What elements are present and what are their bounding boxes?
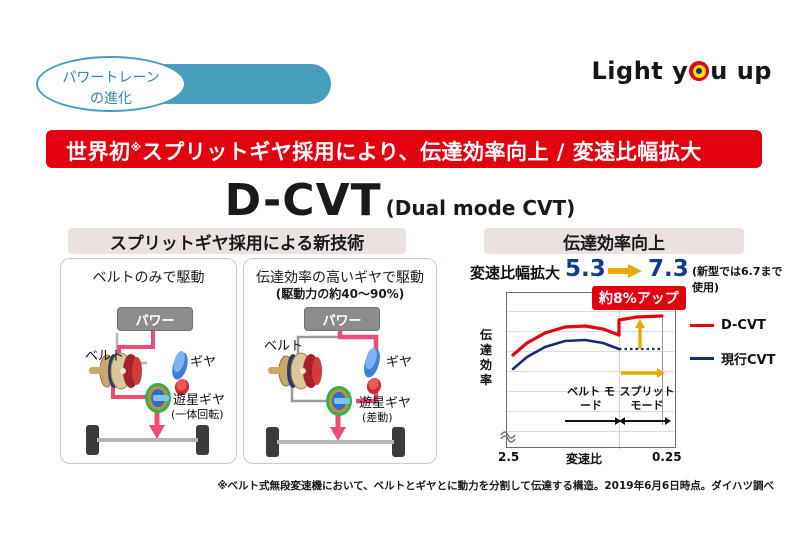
slide-root: CVT パワートレーン の進化 Light y u up 世界初※スプリットギヤ… (0, 0, 800, 534)
panel-gear-drive: 伝達効率の高いギヤで駆動 (駆動力の約40〜90%) パワー (243, 258, 437, 464)
y-axis-char-2: 達 (478, 343, 494, 358)
footnote: ※ベルト式無段変速機において、ベルトとギヤとに動力を分割して伝達する構造。201… (0, 478, 774, 493)
x-axis-tick-start: 2.5 (498, 450, 519, 464)
panel-belt-only: ベルトのみで駆動 パワー (60, 258, 237, 464)
headline-banner: 世界初※スプリットギヤ採用により、伝達効率向上 / 変速比幅拡大 (46, 130, 762, 168)
ratio-from-value: 5.3 (565, 256, 606, 282)
badge-ellipse: パワートレーン の進化 (36, 56, 186, 112)
brand-logo: Light y u up (592, 56, 772, 86)
legend-item-dcvt: D-CVT (690, 318, 775, 333)
legend-item-current-cvt: 現行CVT (690, 349, 775, 368)
legend-label-current-cvt: 現行CVT (721, 349, 775, 368)
title-main: D-CVT (225, 175, 382, 226)
legend-label-dcvt: D-CVT (721, 318, 766, 333)
gear-drive-diagram: パワー ベル (244, 259, 436, 463)
chart-series-lines (507, 293, 674, 446)
left-section-header: スプリットギヤ採用による新技術 (68, 228, 406, 254)
legend-swatch-current-cvt (690, 357, 714, 360)
badge-line-1: パワートレーン (38, 67, 184, 87)
gear-label-a: ギヤ (190, 351, 216, 370)
page-title: D-CVT(Dual mode CVT) (0, 175, 800, 226)
efficiency-chart: 伝 達 効 率 (470, 288, 790, 473)
x-axis-tick-end: 0.25 (652, 450, 682, 464)
headline-banner-text: 世界初※スプリットギヤ採用により、伝達効率向上 / 変速比幅拡大 (66, 136, 702, 166)
belt-label-a: ベルト (85, 345, 124, 364)
improvement-badge: 約8%アップ (592, 286, 686, 310)
headline-part-2: スプリットギヤ採用により、伝達効率向上 / 変速比幅拡大 (142, 140, 702, 164)
gear-label-b: ギヤ (386, 351, 412, 370)
planetary-note-a: (一体回転) (171, 406, 224, 422)
ratio-range-row: 変速比幅拡大 5.3 7.3 (新型では6.7まで使用) (470, 258, 790, 284)
badge-line-2: の進化 (38, 88, 184, 108)
axis-break-icon (500, 431, 516, 443)
y-axis-char-3: 効 (478, 358, 494, 373)
axle-a (97, 438, 198, 442)
split-mode-line-1: スプリット (620, 385, 675, 398)
title-sub: (Dual mode CVT) (386, 196, 576, 220)
chart-legend: D-CVT 現行CVT (690, 318, 775, 384)
footnote-mark: ※ (131, 141, 142, 154)
right-section-header-label: 伝達効率向上 (563, 229, 665, 254)
logo-target-icon (689, 61, 709, 81)
headline-part-1: 世界初 (66, 140, 131, 164)
chart-plot-area: ベルト モード スプリット モード (506, 292, 676, 448)
right-section-header: 伝達効率向上 (484, 228, 744, 254)
left-section-header-label: スプリットギヤ採用による新技術 (110, 229, 365, 254)
belt-only-diagram: パワー (61, 259, 236, 463)
improvement-badge-label: 約8%アップ (599, 291, 679, 307)
powertrain-badge: CVT パワートレーン の進化 (36, 56, 326, 112)
logo-text-post: u up (710, 57, 772, 85)
y-axis-char-4: 率 (478, 373, 494, 388)
ratio-to-value: 7.3 (648, 256, 689, 282)
belt-label-b: ベルト (264, 335, 303, 354)
chart-x-axis-label: 変速比 (566, 450, 602, 467)
split-mode-line-2: モード (631, 399, 664, 412)
belt-mode-line-1: ベルト (567, 385, 600, 398)
legend-swatch-dcvt (690, 324, 714, 327)
belt-mode-label: ベルト モード (563, 385, 619, 413)
split-mode-label: スプリット モード (619, 385, 675, 413)
arrow-right-icon (608, 264, 642, 278)
y-axis-char-1: 伝 (478, 328, 494, 343)
chart-y-axis-label: 伝 達 効 率 (478, 328, 494, 388)
ratio-range-label: 変速比幅拡大 (470, 262, 560, 283)
planetary-note-b: (差動) (362, 409, 393, 425)
logo-text-pre: Light y (592, 57, 689, 85)
axle-b (277, 440, 394, 444)
